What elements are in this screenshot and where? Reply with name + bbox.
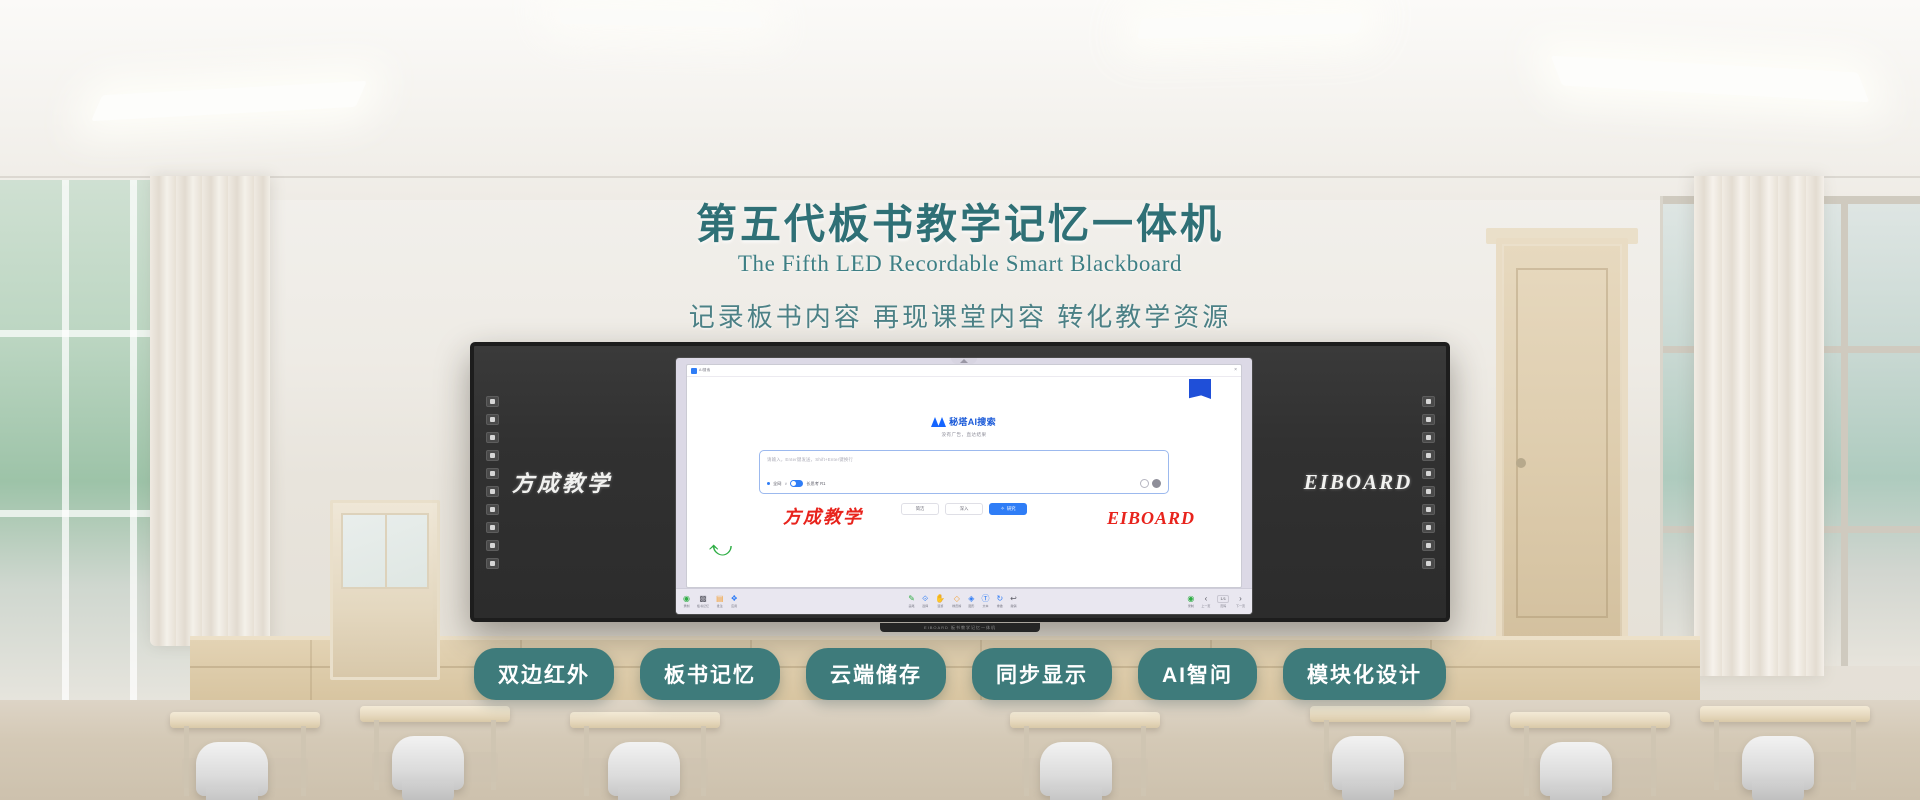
ceiling-seam xyxy=(0,176,1920,178)
search-placeholder: 请输入，Enter键发送，Shift+Enter键换行 xyxy=(767,457,1161,463)
red-ink-right: EIBOARD xyxy=(1107,508,1195,529)
toolbar-memory-label: 板书记忆 xyxy=(697,604,709,608)
brand-name: 秘塔AI搜索 xyxy=(949,415,996,428)
toolbar-record-label: 录制 xyxy=(683,604,689,608)
toolbar-eraser[interactable]: ◇ 橡皮擦 xyxy=(952,595,961,608)
device-footer-badge: EIBOARD 板书教学记忆一体机 xyxy=(880,623,1040,632)
toolbar-annotate[interactable]: ▤ 批注 xyxy=(716,595,724,608)
sparkle-icon: ✧ xyxy=(1001,506,1005,512)
ai-search-app[interactable]: AI搜索 × 秘塔AI搜索 没有广告，直达结果 请输入，Enter键发送，Shi… xyxy=(686,364,1242,588)
page-subtitle-en: The Fifth LED Recordable Smart Blackboar… xyxy=(0,251,1920,277)
feature-pill-dual-infrared[interactable]: 双边红外 xyxy=(474,648,614,700)
toolbar-record[interactable]: ◉ 录制 xyxy=(683,595,690,608)
feature-pill-modular-design[interactable]: 模块化设计 xyxy=(1283,648,1446,700)
feature-pill-row: 双边红外 板书记忆 云端储存 同步显示 AI智问 模块化设计 xyxy=(0,648,1920,700)
app-title: AI搜索 xyxy=(699,368,710,373)
student-chair xyxy=(196,742,268,796)
smart-blackboard: 方成教学 EIBOARD AI搜索 xyxy=(470,342,1450,622)
interactive-display[interactable]: AI搜索 × 秘塔AI搜索 没有广告，直达结果 请输入，Enter键发送，Shi… xyxy=(676,358,1252,614)
blue-marker-shape xyxy=(1189,379,1211,399)
pen-icon: ✎ xyxy=(908,595,915,603)
left-writing-panel[interactable]: 方成教学 xyxy=(474,346,650,618)
toolbar-prev-label: 上一页 xyxy=(1201,604,1210,608)
toolbar-redo-label: 重做 xyxy=(997,604,1003,608)
page-count-caption: 页码 xyxy=(1220,604,1226,608)
deep-think-label: 长思考 R1 xyxy=(806,481,825,487)
close-icon[interactable]: × xyxy=(1234,368,1237,373)
student-chair xyxy=(608,742,680,796)
toolbar-next-page[interactable]: › 下一页 xyxy=(1236,595,1245,608)
toolbar-undo-label: 撤销 xyxy=(1011,604,1017,608)
toolbar-shapes[interactable]: ◈ 图形 xyxy=(968,595,974,608)
chevron-down-icon[interactable]: ∨ xyxy=(784,481,787,486)
feature-pill-ai-ask[interactable]: AI智问 xyxy=(1138,648,1257,700)
page-indicator: 1/1 页码 xyxy=(1217,595,1229,608)
eraser-icon: ◇ xyxy=(954,595,960,603)
toolbar-annotate-label: 批注 xyxy=(717,604,723,608)
toolbar-record-right-label: 录制 xyxy=(1188,604,1194,608)
grid-icon: ▩ xyxy=(699,595,707,603)
app-titlebar: AI搜索 × xyxy=(687,365,1241,377)
metaso-logo-icon xyxy=(932,417,946,427)
mode-button-research[interactable]: ✧ 研究 xyxy=(989,503,1027,515)
toolbar-pan[interactable]: ✋ 漫游 xyxy=(935,595,945,608)
left-chalk-text: 方成教学 xyxy=(512,466,612,498)
search-input-box[interactable]: 请输入，Enter键发送，Shift+Enter键换行 全网 ∨ 长思考 R1 xyxy=(759,450,1169,494)
record-dot-icon: ◉ xyxy=(1187,595,1194,603)
red-ink-left: 方成教学 xyxy=(783,503,863,529)
toolbar-record-right[interactable]: ◉ 录制 xyxy=(1187,595,1194,608)
student-chair xyxy=(1540,742,1612,796)
cursor-icon: ⟐ xyxy=(922,595,928,603)
toolbar-text-label: 文本 xyxy=(982,604,988,608)
prev-icon: ‹ xyxy=(1205,595,1208,603)
apps-icon: ❖ xyxy=(731,595,738,603)
hero-headline: 第五代板书教学记忆一体机 The Fifth LED Recordable Sm… xyxy=(0,200,1920,334)
classroom-hero-banner: 第五代板书教学记忆一体机 The Fifth LED Recordable Sm… xyxy=(0,0,1920,800)
toolbar-select-label: 选择 xyxy=(922,604,928,608)
camera-notch xyxy=(951,358,977,364)
toolbar-text[interactable]: Ⓣ 文本 xyxy=(981,595,989,608)
app-logo-icon xyxy=(691,368,697,374)
toolbar-redo[interactable]: ↻ 重做 xyxy=(996,595,1003,608)
camera-icon[interactable] xyxy=(1140,479,1149,488)
page-title: 第五代板书教学记忆一体机 xyxy=(0,200,1920,248)
toolbar-undo[interactable]: ↩ 撤销 xyxy=(1010,595,1017,608)
toolbar-select[interactable]: ⟐ 选择 xyxy=(922,595,928,608)
toolbar-memory[interactable]: ▩ 板书记忆 xyxy=(697,595,709,608)
mode-button-deep[interactable]: 深入 xyxy=(945,503,983,515)
hand-icon: ✋ xyxy=(935,595,945,603)
undo-arrow-icon[interactable]: ⤻ xyxy=(709,539,733,561)
brand-subtitle: 没有广告，直达结果 xyxy=(687,432,1241,438)
toolbar-shapes-label: 图形 xyxy=(968,604,974,608)
list-icon: ▤ xyxy=(716,595,724,603)
deep-think-toggle[interactable] xyxy=(790,480,803,487)
mode-button-research-label: 研究 xyxy=(1007,506,1016,512)
mode-button-concise[interactable]: 简洁 xyxy=(901,503,939,515)
right-writing-panel[interactable]: EIBOARD xyxy=(1270,346,1446,618)
next-icon: › xyxy=(1239,595,1242,603)
toolbar-prev-page[interactable]: ‹ 上一页 xyxy=(1201,595,1210,608)
toolbar-right-group[interactable]: ◉ 录制 ‹ 上一页 1/1 页码 › 下一页 xyxy=(1187,595,1245,608)
toolbar-next-label: 下一页 xyxy=(1236,604,1245,608)
toolbar-pen[interactable]: ✎ 画笔 xyxy=(908,595,915,608)
page-tagline: 记录板书内容 再现课堂内容 转化教学资源 xyxy=(0,297,1920,334)
shapes-icon: ◈ xyxy=(968,595,974,603)
text-icon: Ⓣ xyxy=(981,595,989,603)
feature-pill-cloud-storage[interactable]: 云端储存 xyxy=(806,648,946,700)
mode-label[interactable]: 全网 xyxy=(773,481,781,487)
reset-icon: ↻ xyxy=(996,595,1003,603)
student-chair xyxy=(1040,742,1112,796)
feature-pill-board-memory[interactable]: 板书记忆 xyxy=(640,648,780,700)
record-dot-icon: ◉ xyxy=(683,595,690,603)
feature-pill-sync-display[interactable]: 同步显示 xyxy=(972,648,1112,700)
toolbar-left-group[interactable]: ◉ 录制 ▩ 板书记忆 ▤ 批注 ❖ 应用 xyxy=(683,595,738,608)
toolbar-pan-label: 漫游 xyxy=(937,604,943,608)
student-chair xyxy=(1332,736,1404,790)
send-icon[interactable] xyxy=(1152,479,1161,488)
toolbar-apps[interactable]: ❖ 应用 xyxy=(731,595,738,608)
toolbar-eraser-label: 橡皮擦 xyxy=(952,604,961,608)
brand-header: 秘塔AI搜索 xyxy=(687,415,1241,428)
undo-icon: ↩ xyxy=(1010,595,1017,603)
page-count-value: 1/1 xyxy=(1217,595,1229,603)
student-chair xyxy=(1742,736,1814,790)
door-knob xyxy=(1516,458,1526,468)
mode-dot-icon xyxy=(767,482,770,485)
toolbar-apps-label: 应用 xyxy=(731,604,737,608)
right-chalk-text: EIBOARD xyxy=(1304,470,1413,495)
screen-toolbar[interactable]: ◉ 录制 ▩ 板书记忆 ▤ 批注 ❖ 应用 xyxy=(676,588,1252,614)
toolbar-pen-label: 画笔 xyxy=(909,604,915,608)
toolbar-center-group[interactable]: ✎ 画笔 ⟐ 选择 ✋ 漫游 ◇ 橡皮擦 xyxy=(908,595,1017,608)
student-chair xyxy=(392,736,464,790)
